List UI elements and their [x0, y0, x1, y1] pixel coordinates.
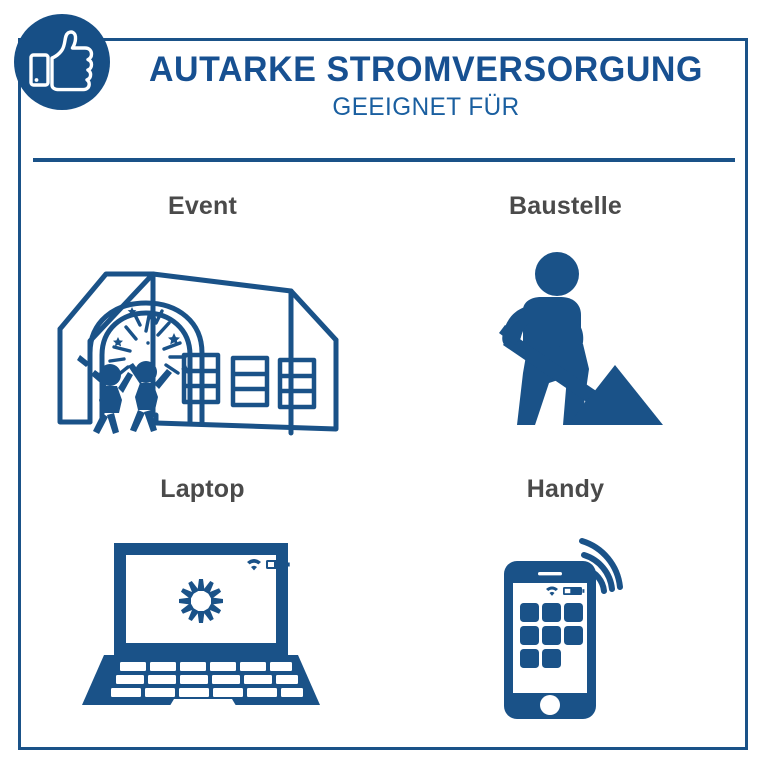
use-case-event: Event	[21, 180, 384, 463]
thumbs-up-badge	[14, 14, 110, 110]
battery-icon	[266, 560, 290, 569]
use-case-baustelle: Baustelle	[384, 180, 747, 463]
use-case-label: Event	[168, 192, 237, 221]
thumbs-up-icon	[14, 14, 110, 110]
use-case-label: Laptop	[160, 475, 245, 504]
laptop-icon	[76, 535, 326, 715]
page-title: AUTARKE STROMVERSORGUNG	[129, 52, 723, 89]
use-case-grid: Event	[21, 180, 747, 746]
header-divider	[33, 158, 735, 162]
use-case-handy: Handy	[384, 463, 747, 746]
use-case-label: Handy	[527, 475, 604, 504]
construction-worker-icon	[465, 247, 675, 437]
use-case-art	[380, 221, 751, 463]
event-tent-icon	[48, 247, 348, 437]
page-subtitle: GEEIGNET FÜR	[129, 93, 723, 122]
mobile-phone-icon	[468, 525, 668, 725]
header: AUTARKE STROMVERSORGUNG GEEIGNET FÜR	[120, 52, 732, 122]
use-case-art	[382, 504, 749, 746]
use-case-label: Baustelle	[509, 192, 622, 221]
use-case-art	[19, 504, 386, 746]
use-case-laptop: Laptop	[21, 463, 384, 746]
battery-icon	[563, 587, 584, 595]
use-case-art	[16, 221, 389, 463]
